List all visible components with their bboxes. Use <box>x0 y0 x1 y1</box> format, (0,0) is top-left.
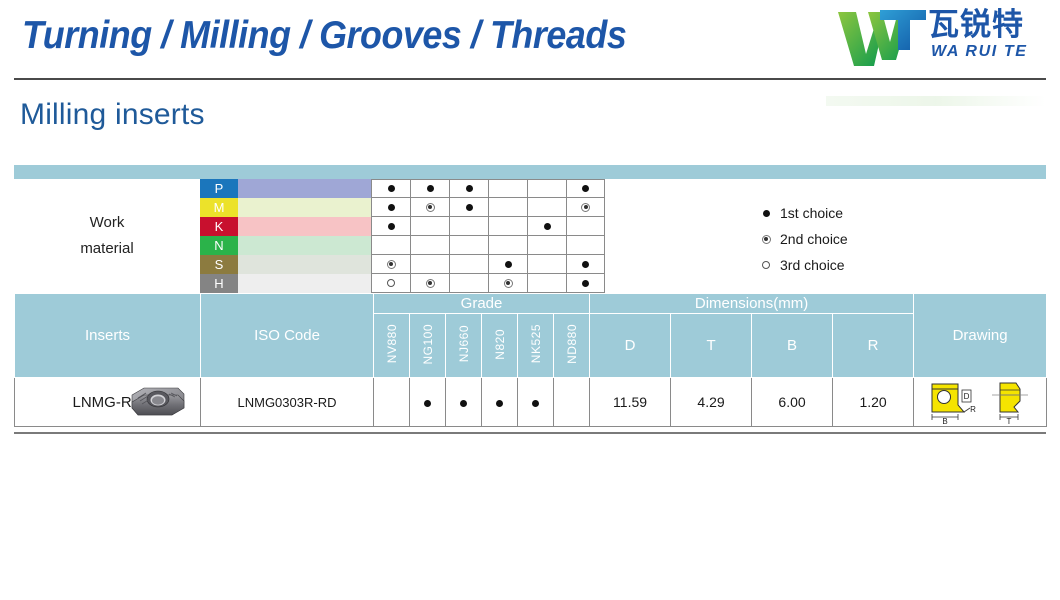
material-choice-cells <box>371 198 605 217</box>
svg-text:R: R <box>970 405 976 414</box>
grade-label: NK525 <box>529 324 543 363</box>
col-header-grade-NK525: NK525 <box>518 314 554 378</box>
choice-symbol-2 <box>426 203 435 212</box>
cell-grade-NG100 <box>410 378 446 427</box>
inserts-table: Inserts ISO Code Grade Dimensions(mm) Dr… <box>14 293 1047 427</box>
col-header-dimension-D: D <box>590 314 671 378</box>
page-title: Milling inserts <box>20 98 205 132</box>
col-header-grade-ND880: ND880 <box>554 314 590 378</box>
material-cell-H-ND880 <box>566 274 605 293</box>
material-swatch-M <box>238 198 371 217</box>
logo-mark-icon <box>836 8 928 68</box>
table-row[interactable]: LNMG-RDLNMG0303R-RD11.594.296.001.20DBRT <box>15 378 1047 427</box>
legend-item: 3rd choice <box>752 252 952 278</box>
material-cell-H-NK525 <box>527 274 566 293</box>
background-watermark <box>826 96 1046 106</box>
choice-symbol-1 <box>466 204 473 211</box>
cell-grade-NK525 <box>518 378 554 427</box>
work-material-label: Work material <box>14 179 200 293</box>
material-code-N: N <box>200 236 238 255</box>
material-cell-P-NJ660 <box>449 179 488 198</box>
work-material-rows: PMKNSH <box>200 179 606 293</box>
material-swatch-K <box>238 217 371 236</box>
insert-drawing: DBRT <box>914 378 1046 426</box>
choice-symbol-1 <box>466 185 473 192</box>
material-cell-P-NG100 <box>410 179 449 198</box>
work-material-label-line2: material <box>80 236 133 262</box>
company-logo: 瓦锐特 WA RUI TE <box>836 6 1050 72</box>
material-cell-K-NV880 <box>371 217 410 236</box>
choice-symbol-1 <box>532 400 539 407</box>
work-material-row: P <box>200 179 606 198</box>
material-cell-M-NK525 <box>527 198 566 217</box>
legend-glyph <box>752 210 780 217</box>
drawing-side-view: T <box>986 379 1036 425</box>
material-choice-cells <box>371 217 605 236</box>
material-cell-K-NJ660 <box>449 217 488 236</box>
header-divider <box>14 78 1046 80</box>
choice-symbol-1 <box>460 400 467 407</box>
table-head-row-1: Inserts ISO Code Grade Dimensions(mm) Dr… <box>15 294 1047 314</box>
work-material-row: H <box>200 274 606 293</box>
cell-dimension-R: 1.20 <box>833 378 914 427</box>
col-header-dimension-R: R <box>833 314 914 378</box>
material-choice-cells <box>371 236 605 255</box>
legend-label: 1st choice <box>780 205 843 221</box>
cell-drawing: DBRT <box>914 378 1047 427</box>
material-swatch-N <box>238 236 371 255</box>
work-material-row: M <box>200 198 606 217</box>
grade-label: NG100 <box>421 324 435 365</box>
page-header: Turning / Milling / Grooves / Threads <box>0 0 1060 82</box>
legend-item: 2nd choice <box>752 226 952 252</box>
choice-symbol-1 <box>424 400 431 407</box>
work-material-row: S <box>200 255 606 274</box>
choice-symbol-1 <box>496 400 503 407</box>
cell-insert-name: LNMG-RD <box>15 378 201 427</box>
choice-symbol-2 <box>387 260 396 269</box>
work-material-row: K <box>200 217 606 236</box>
col-header-dimension-T: T <box>671 314 752 378</box>
svg-text:D: D <box>964 392 970 401</box>
material-cell-K-NK525 <box>527 217 566 236</box>
col-header-inserts: Inserts <box>15 294 201 378</box>
material-cell-N-ND880 <box>566 236 605 255</box>
material-cell-N-NK525 <box>527 236 566 255</box>
cell-grade-NV880 <box>374 378 410 427</box>
choice-symbol-1 <box>582 261 589 268</box>
material-swatch-H <box>238 274 371 293</box>
cell-dimension-T: 4.29 <box>671 378 752 427</box>
choice-symbol-2 <box>504 279 513 288</box>
cell-grade-NJ660 <box>446 378 482 427</box>
table-body: LNMG-RDLNMG0303R-RD11.594.296.001.20DBRT <box>15 378 1047 427</box>
grade-label: NV880 <box>385 324 399 363</box>
choice-symbol-1 <box>388 223 395 230</box>
drawing-front-view: DBR <box>924 379 980 425</box>
work-material-row: N <box>200 236 606 255</box>
material-cell-M-NV880 <box>371 198 410 217</box>
choice-symbol-1 <box>582 185 589 192</box>
choice-symbol-1 <box>505 261 512 268</box>
svg-text:T: T <box>1007 417 1012 425</box>
material-cell-M-N820 <box>488 198 527 217</box>
choice-symbol-1 <box>427 185 434 192</box>
material-choice-cells <box>371 255 605 274</box>
material-swatch-S <box>238 255 371 274</box>
insert-photo <box>122 384 190 422</box>
col-header-grade-N820: N820 <box>482 314 518 378</box>
material-cell-H-NG100 <box>410 274 449 293</box>
material-cell-S-NK525 <box>527 255 566 274</box>
legend-label: 2nd choice <box>780 231 848 247</box>
material-choice-cells <box>371 179 605 198</box>
col-header-drawing: Drawing <box>914 294 1047 378</box>
material-cell-K-N820 <box>488 217 527 236</box>
material-cell-M-ND880 <box>566 198 605 217</box>
material-cell-K-ND880 <box>566 217 605 236</box>
svg-text:B: B <box>942 417 947 425</box>
table-bottom-divider <box>14 432 1046 434</box>
material-code-H: H <box>200 274 238 293</box>
choice-symbol-3 <box>387 279 395 287</box>
header-title: Turning / Milling / Grooves / Threads <box>22 14 626 58</box>
material-cell-S-N820 <box>488 255 527 274</box>
catalog-page: Turning / Milling / Grooves / Threads <box>0 0 1060 600</box>
material-choice-cells <box>371 274 605 293</box>
choice-symbol-2 <box>581 203 590 212</box>
choice-symbol-2 <box>426 279 435 288</box>
col-header-dimensions: Dimensions(mm) <box>590 294 914 314</box>
material-cell-S-NV880 <box>371 255 410 274</box>
table-head: Inserts ISO Code Grade Dimensions(mm) Dr… <box>15 294 1047 378</box>
choice-symbol-1 <box>544 223 551 230</box>
material-code-M: M <box>200 198 238 217</box>
material-cell-H-N820 <box>488 274 527 293</box>
material-cell-S-ND880 <box>566 255 605 274</box>
logo-chinese-text: 瓦锐特 <box>928 8 1024 42</box>
col-header-grade-NG100: NG100 <box>410 314 446 378</box>
choice-legend: 1st choice2nd choice3rd choice <box>752 200 952 278</box>
material-cell-H-NV880 <box>371 274 410 293</box>
cell-dimension-D: 11.59 <box>590 378 671 427</box>
material-cell-K-NG100 <box>410 217 449 236</box>
legend-label: 3rd choice <box>780 257 845 273</box>
material-code-S: S <box>200 255 238 274</box>
legend-glyph <box>752 235 780 244</box>
logo-english-text: WA RUI TE <box>931 43 1027 61</box>
col-header-dimension-B: B <box>752 314 833 378</box>
material-cell-N-NV880 <box>371 236 410 255</box>
col-header-grade-NV880: NV880 <box>374 314 410 378</box>
material-cell-P-NK525 <box>527 179 566 198</box>
material-cell-S-NJ660 <box>449 255 488 274</box>
material-cell-N-NG100 <box>410 236 449 255</box>
grade-label: ND880 <box>565 324 579 364</box>
material-cell-M-NJ660 <box>449 198 488 217</box>
material-swatch-P <box>238 179 371 198</box>
grade-label: N820 <box>493 329 507 360</box>
material-cell-N-N820 <box>488 236 527 255</box>
col-header-iso-code: ISO Code <box>201 294 374 378</box>
material-cell-P-N820 <box>488 179 527 198</box>
cell-grade-N820 <box>482 378 518 427</box>
col-header-grade: Grade <box>374 294 590 314</box>
choice-symbol-1 <box>388 185 395 192</box>
choice-symbol-1 <box>388 204 395 211</box>
cell-grade-ND880 <box>554 378 590 427</box>
grade-label: NJ660 <box>457 325 471 362</box>
material-cell-S-NG100 <box>410 255 449 274</box>
col-header-grade-NJ660: NJ660 <box>446 314 482 378</box>
legend-item: 1st choice <box>752 200 952 226</box>
material-cell-H-NJ660 <box>449 274 488 293</box>
material-code-K: K <box>200 217 238 236</box>
cell-dimension-B: 6.00 <box>752 378 833 427</box>
choice-symbol-1 <box>582 280 589 287</box>
material-cell-P-NV880 <box>371 179 410 198</box>
choice-symbol-2 <box>762 235 771 244</box>
work-material-label-line1: Work <box>90 210 125 236</box>
choice-symbol-1 <box>763 210 770 217</box>
material-cell-P-ND880 <box>566 179 605 198</box>
legend-glyph <box>752 261 780 269</box>
cell-iso-code: LNMG0303R-RD <box>201 378 374 427</box>
material-cell-N-NJ660 <box>449 236 488 255</box>
material-cell-M-NG100 <box>410 198 449 217</box>
material-code-P: P <box>200 179 238 198</box>
choice-symbol-3 <box>762 261 770 269</box>
section-band <box>14 165 1046 179</box>
